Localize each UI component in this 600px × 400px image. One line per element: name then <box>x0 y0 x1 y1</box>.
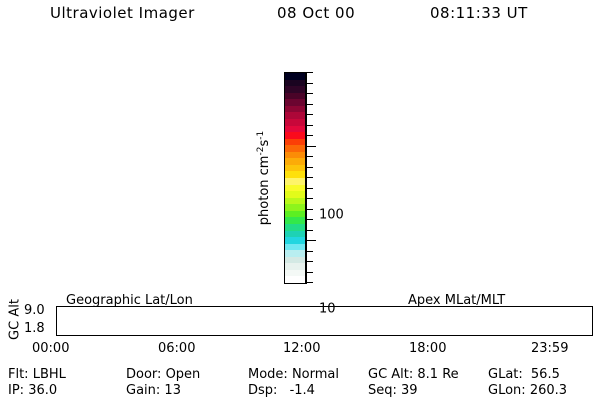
status-gain: Gain: 13 <box>126 383 181 398</box>
colorbar-tick <box>306 188 313 189</box>
unit-exponent-2: -1 <box>256 131 266 140</box>
gc-altitude-curve <box>57 307 592 335</box>
apex-aurora-canvas <box>336 46 594 294</box>
colorbar-tick <box>306 198 313 199</box>
colorbar-tick <box>306 135 313 136</box>
gc-alt-tick-high: 9.0 <box>24 303 45 318</box>
door-value: Open <box>166 367 201 382</box>
mode-value: Normal <box>292 367 339 382</box>
colorbar-tick <box>306 209 313 210</box>
gc-alt-tick-low: 1.8 <box>24 321 45 336</box>
colorbar-tick <box>306 167 313 168</box>
dsp-value: -1.4 <box>290 383 315 398</box>
colorbar-band <box>285 276 305 283</box>
colorbar-panel: 100 10 photon cm-2s-1 <box>268 60 334 296</box>
colorbar-tick <box>306 146 316 147</box>
gc-alt-axis-label: GC Alt <box>8 296 23 344</box>
time-tick-1200: 12:00 <box>283 341 320 356</box>
status-dsp: Dsp: -1.4 <box>248 383 315 398</box>
observation-time: 08:11:33 UT <box>430 4 528 22</box>
glon-label: GLon: <box>488 383 526 398</box>
mode-label: Mode: <box>248 367 288 382</box>
header: Ultraviolet Imager 08 Oct 00 08:11:33 UT <box>0 4 600 28</box>
time-tick-0000: 00:00 <box>32 341 69 356</box>
status-mode: Mode: Normal <box>248 367 339 382</box>
status-filter: Flt: LBHL <box>8 367 66 382</box>
time-tick-2359: 23:59 <box>531 341 568 356</box>
apex-mlt-panel <box>336 46 594 294</box>
dsp-label: Dsp: <box>248 383 277 398</box>
seq-value: 39 <box>401 383 418 398</box>
gain-value: 13 <box>164 383 181 398</box>
colorbar-tick <box>306 93 313 94</box>
colorbar-tick <box>306 114 313 115</box>
time-tick-1800: 18:00 <box>409 341 446 356</box>
colorbar-tick <box>306 72 313 73</box>
geographic-image-panel <box>8 46 266 294</box>
filter-value: LBHL <box>33 367 66 382</box>
geographic-aurora-canvas <box>8 46 266 294</box>
gain-label: Gain: <box>126 383 160 398</box>
status-glat: GLat: 56.5 <box>488 367 560 382</box>
observation-date: 08 Oct 00 <box>277 4 355 22</box>
colorbar-tick <box>306 177 313 178</box>
gcalt-label: GC Alt: <box>368 367 413 382</box>
time-tick-0600: 06:00 <box>158 341 195 356</box>
instrument-title: Ultraviolet Imager <box>50 4 195 22</box>
colorbar-tick <box>306 272 313 273</box>
gc-altitude-strip-plot[interactable] <box>56 306 593 336</box>
status-gc-alt: GC Alt: 8.1 Re <box>368 367 459 382</box>
colorbar-tick <box>306 125 313 126</box>
colorbar-tick <box>306 261 313 262</box>
unit-prefix: photon cm <box>257 156 272 226</box>
status-door: Door: Open <box>126 367 200 382</box>
door-label: Door: <box>126 367 161 382</box>
glat-label: GLat: <box>488 367 523 382</box>
status-ip: IP: 36.0 <box>8 383 57 398</box>
colorbar-tick <box>306 104 313 105</box>
status-seq: Seq: 39 <box>368 383 418 398</box>
status-glon: GLon: 260.3 <box>488 383 567 398</box>
filter-label: Flt: <box>8 367 29 382</box>
colorbar-tick <box>306 156 313 157</box>
uvi-summary-plot: Ultraviolet Imager 08 Oct 00 08:11:33 UT… <box>0 0 600 400</box>
colorbar-tick <box>306 282 313 283</box>
colorbar-unit-label: photon cm-2s-1 <box>256 131 272 225</box>
colorbar-tick <box>306 219 313 220</box>
colorbar-tick <box>306 240 316 241</box>
unit-mid: s <box>257 140 272 147</box>
colorbar-tick <box>306 230 313 231</box>
gcalt-value: 8.1 Re <box>417 367 458 382</box>
seq-label: Seq: <box>368 383 397 398</box>
unit-exponent-1: -2 <box>256 147 266 156</box>
ip-label: IP: <box>8 383 24 398</box>
colorbar-tick <box>306 251 313 252</box>
ip-value: 36.0 <box>28 383 57 398</box>
colorbar-gradient <box>284 72 306 284</box>
glon-value: 260.3 <box>530 383 567 398</box>
glat-value: 56.5 <box>531 367 560 382</box>
colorbar-tick <box>306 83 313 84</box>
